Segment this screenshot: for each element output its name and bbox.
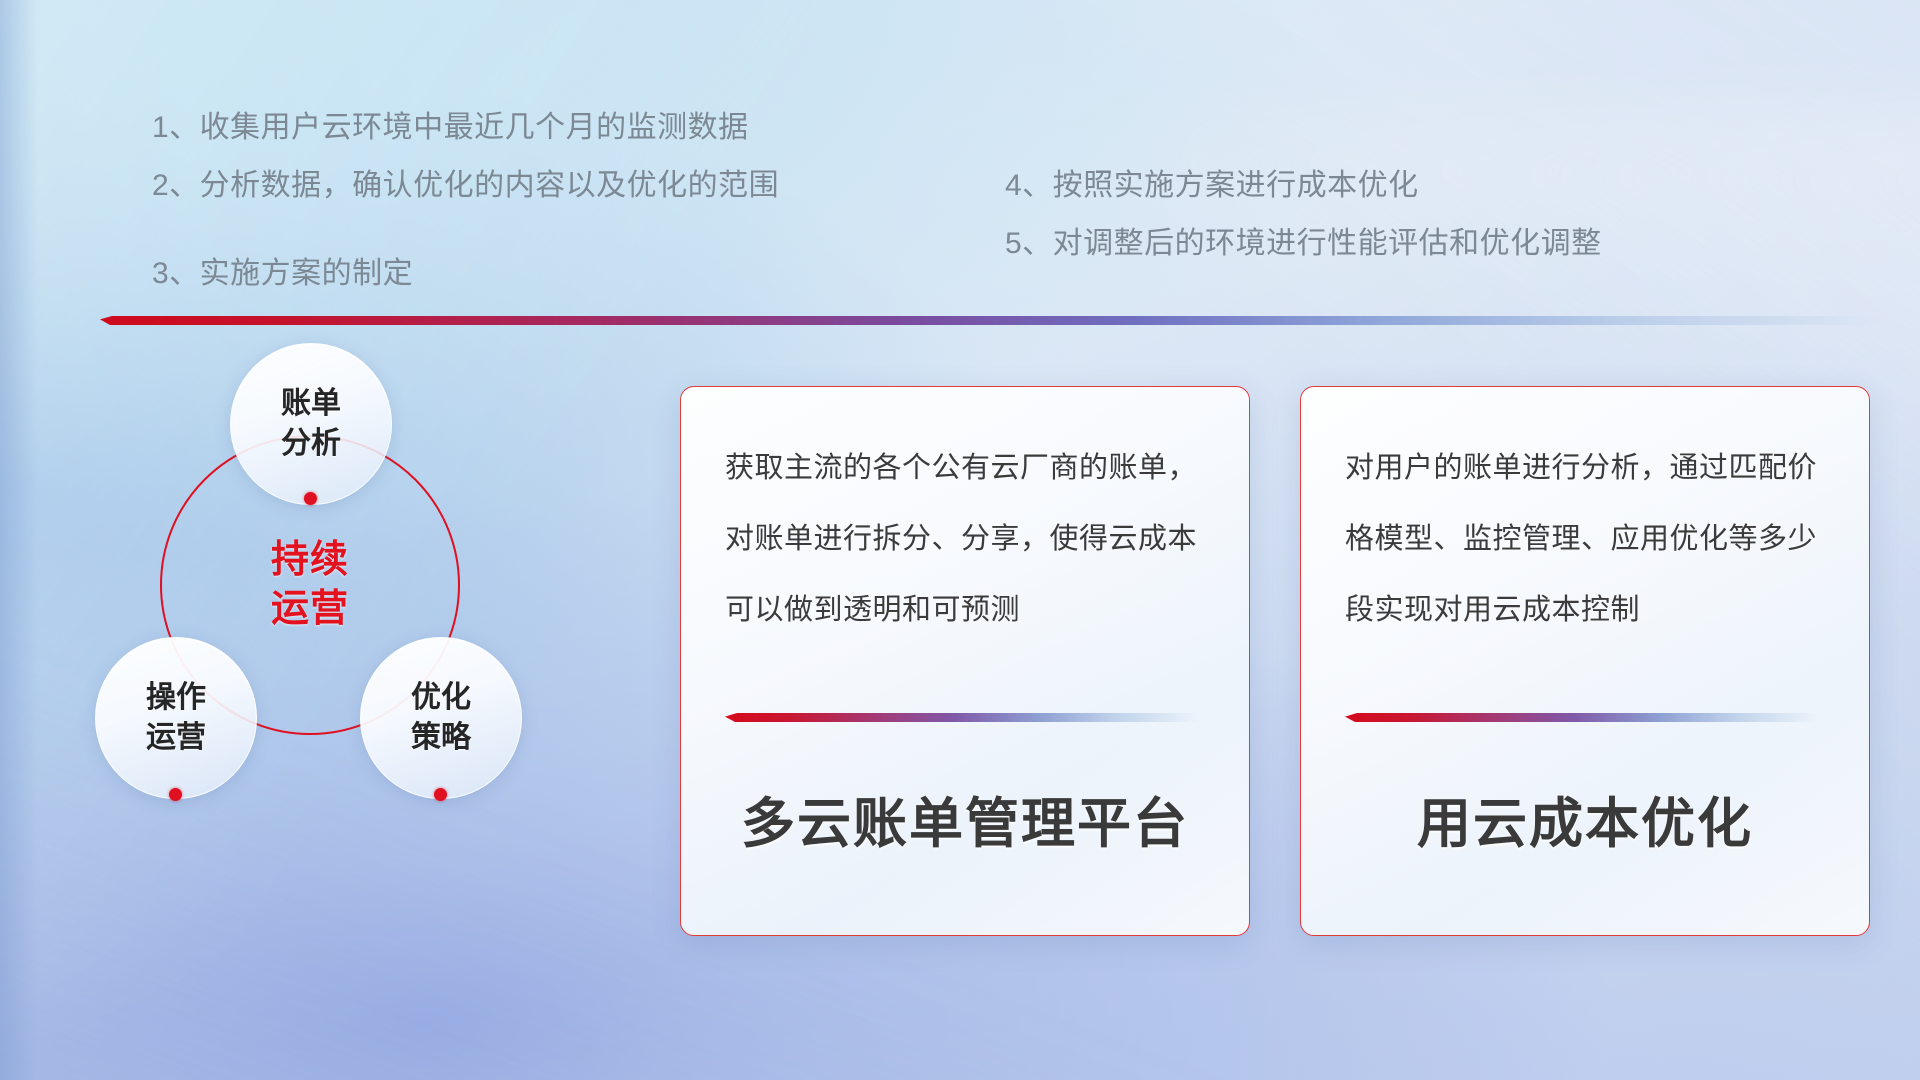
card-cloud-cost-optimization[interactable]: 对用户的账单进行分析，通过匹配价格模型、监控管理、应用优化等多少段实现对用云成本… (1300, 386, 1870, 936)
card-divider (725, 713, 1199, 722)
card-divider-bar (725, 713, 1199, 722)
step-item-5: 5、对调整后的环境进行性能评估和优化调整 (1005, 218, 1602, 262)
card-body-text: 获取主流的各个公有云厂商的账单，对账单进行拆分、分享，使得云成本可以做到透明和可… (725, 433, 1209, 646)
venn-lobe-operations[interactable]: 操作 运营 (95, 637, 257, 799)
venn-lobe-label-line1: 账单 (281, 384, 341, 424)
venn-node-dot-bottom-left (169, 788, 182, 801)
section-divider (100, 316, 1882, 325)
venn-lobe-label-line2: 运营 (146, 718, 206, 758)
step-item-3: 3、实施方案的制定 (152, 248, 413, 292)
step-list: 1、收集用户云环境中最近几个月的监测数据 2、分析数据，确认优化的内容以及优化的… (0, 0, 1920, 270)
step-item-2: 2、分析数据，确认优化的内容以及优化的范围 (152, 160, 779, 204)
venn-lobe-label-line1: 优化 (411, 678, 471, 718)
card-divider (1345, 713, 1819, 722)
card-divider-bar (1345, 713, 1819, 722)
card-body-text: 对用户的账单进行分析，通过匹配价格模型、监控管理、应用优化等多少段实现对用云成本… (1345, 433, 1829, 646)
venn-lobe-optimization-strategy-label: 优化 策略 (411, 678, 471, 757)
card-title: 用云成本优化 (1301, 779, 1869, 858)
venn-diagram: 账单 分析 操作 运营 优化 策略 持续 运营 (100, 350, 620, 950)
venn-lobe-label-line2: 策略 (411, 718, 471, 758)
venn-lobe-label-line2: 分析 (281, 424, 341, 464)
venn-node-dot-top (304, 492, 317, 505)
card-title: 多云账单管理平台 (681, 779, 1249, 858)
venn-lobe-optimization-strategy[interactable]: 优化 策略 (360, 637, 522, 799)
venn-lobe-bill-analysis[interactable]: 账单 分析 (230, 343, 392, 505)
step-item-4: 4、按照实施方案进行成本优化 (1005, 160, 1419, 204)
section-divider-bar (100, 316, 1882, 325)
venn-lobe-operations-label: 操作 运营 (146, 678, 206, 757)
venn-lobe-label-line1: 操作 (146, 678, 206, 718)
step-item-1: 1、收集用户云环境中最近几个月的监测数据 (152, 102, 749, 146)
card-multicloud-billing[interactable]: 获取主流的各个公有云厂商的账单，对账单进行拆分、分享，使得云成本可以做到透明和可… (680, 386, 1250, 936)
venn-lobe-bill-analysis-label: 账单 分析 (281, 384, 341, 463)
venn-node-dot-bottom-right (434, 788, 447, 801)
